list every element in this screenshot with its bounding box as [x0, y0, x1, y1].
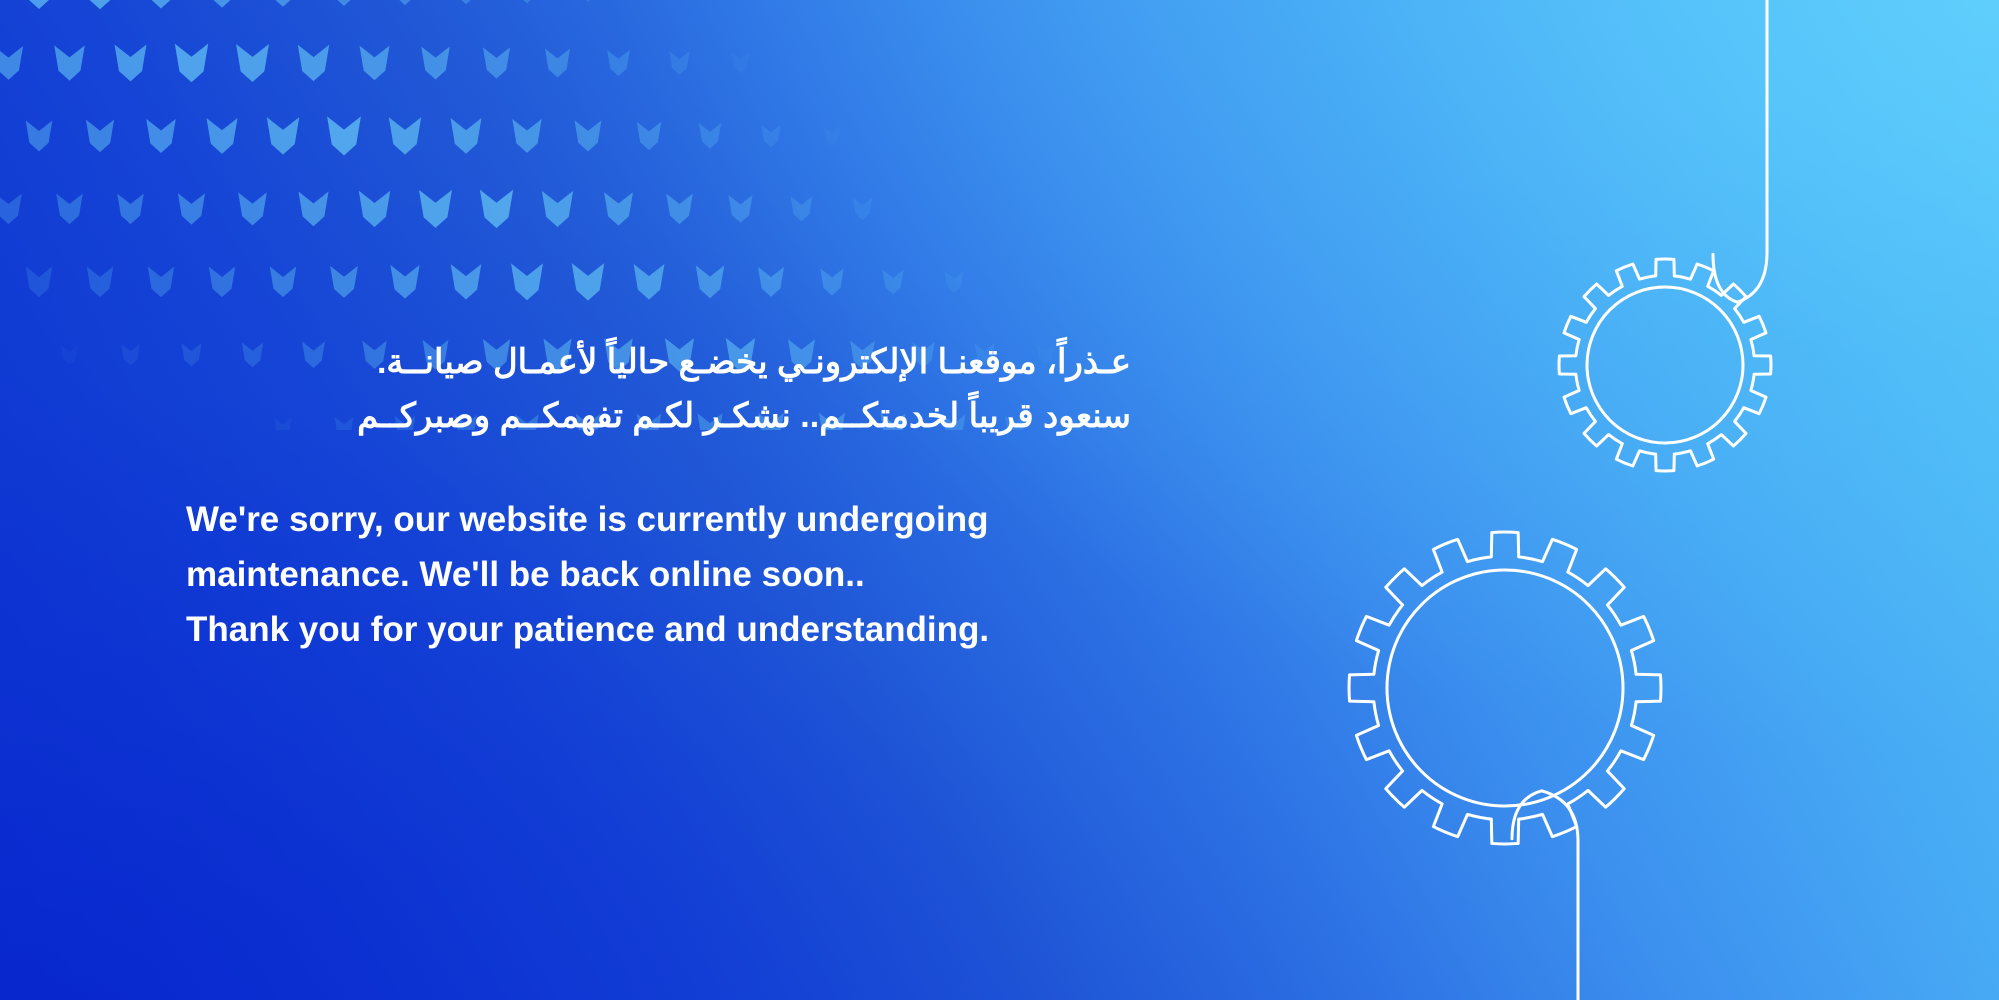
arabic-line-1: عـذراً، موقعنـا الإلكترونـي يخضـع حالياً… — [186, 336, 1131, 390]
message-block: عـذراً، موقعنـا الإلكترونـي يخضـع حالياً… — [186, 336, 1186, 658]
arabic-line-2: سنعود قريباً لخدمتكــم.. نشكـر لكـم تفهم… — [186, 390, 1131, 444]
maintenance-page: عـذراً، موقعنـا الإلكترونـي يخضـع حالياً… — [0, 0, 1999, 1000]
english-line-1: We're sorry, our website is currently un… — [186, 493, 1186, 548]
english-message: We're sorry, our website is currently un… — [186, 493, 1186, 658]
arabic-message: عـذراً، موقعنـا الإلكترونـي يخضـع حالياً… — [186, 336, 1131, 443]
english-line-2: maintenance. We'll be back online soon.. — [186, 548, 1186, 603]
english-line-3: Thank you for your patience and understa… — [186, 603, 1186, 658]
